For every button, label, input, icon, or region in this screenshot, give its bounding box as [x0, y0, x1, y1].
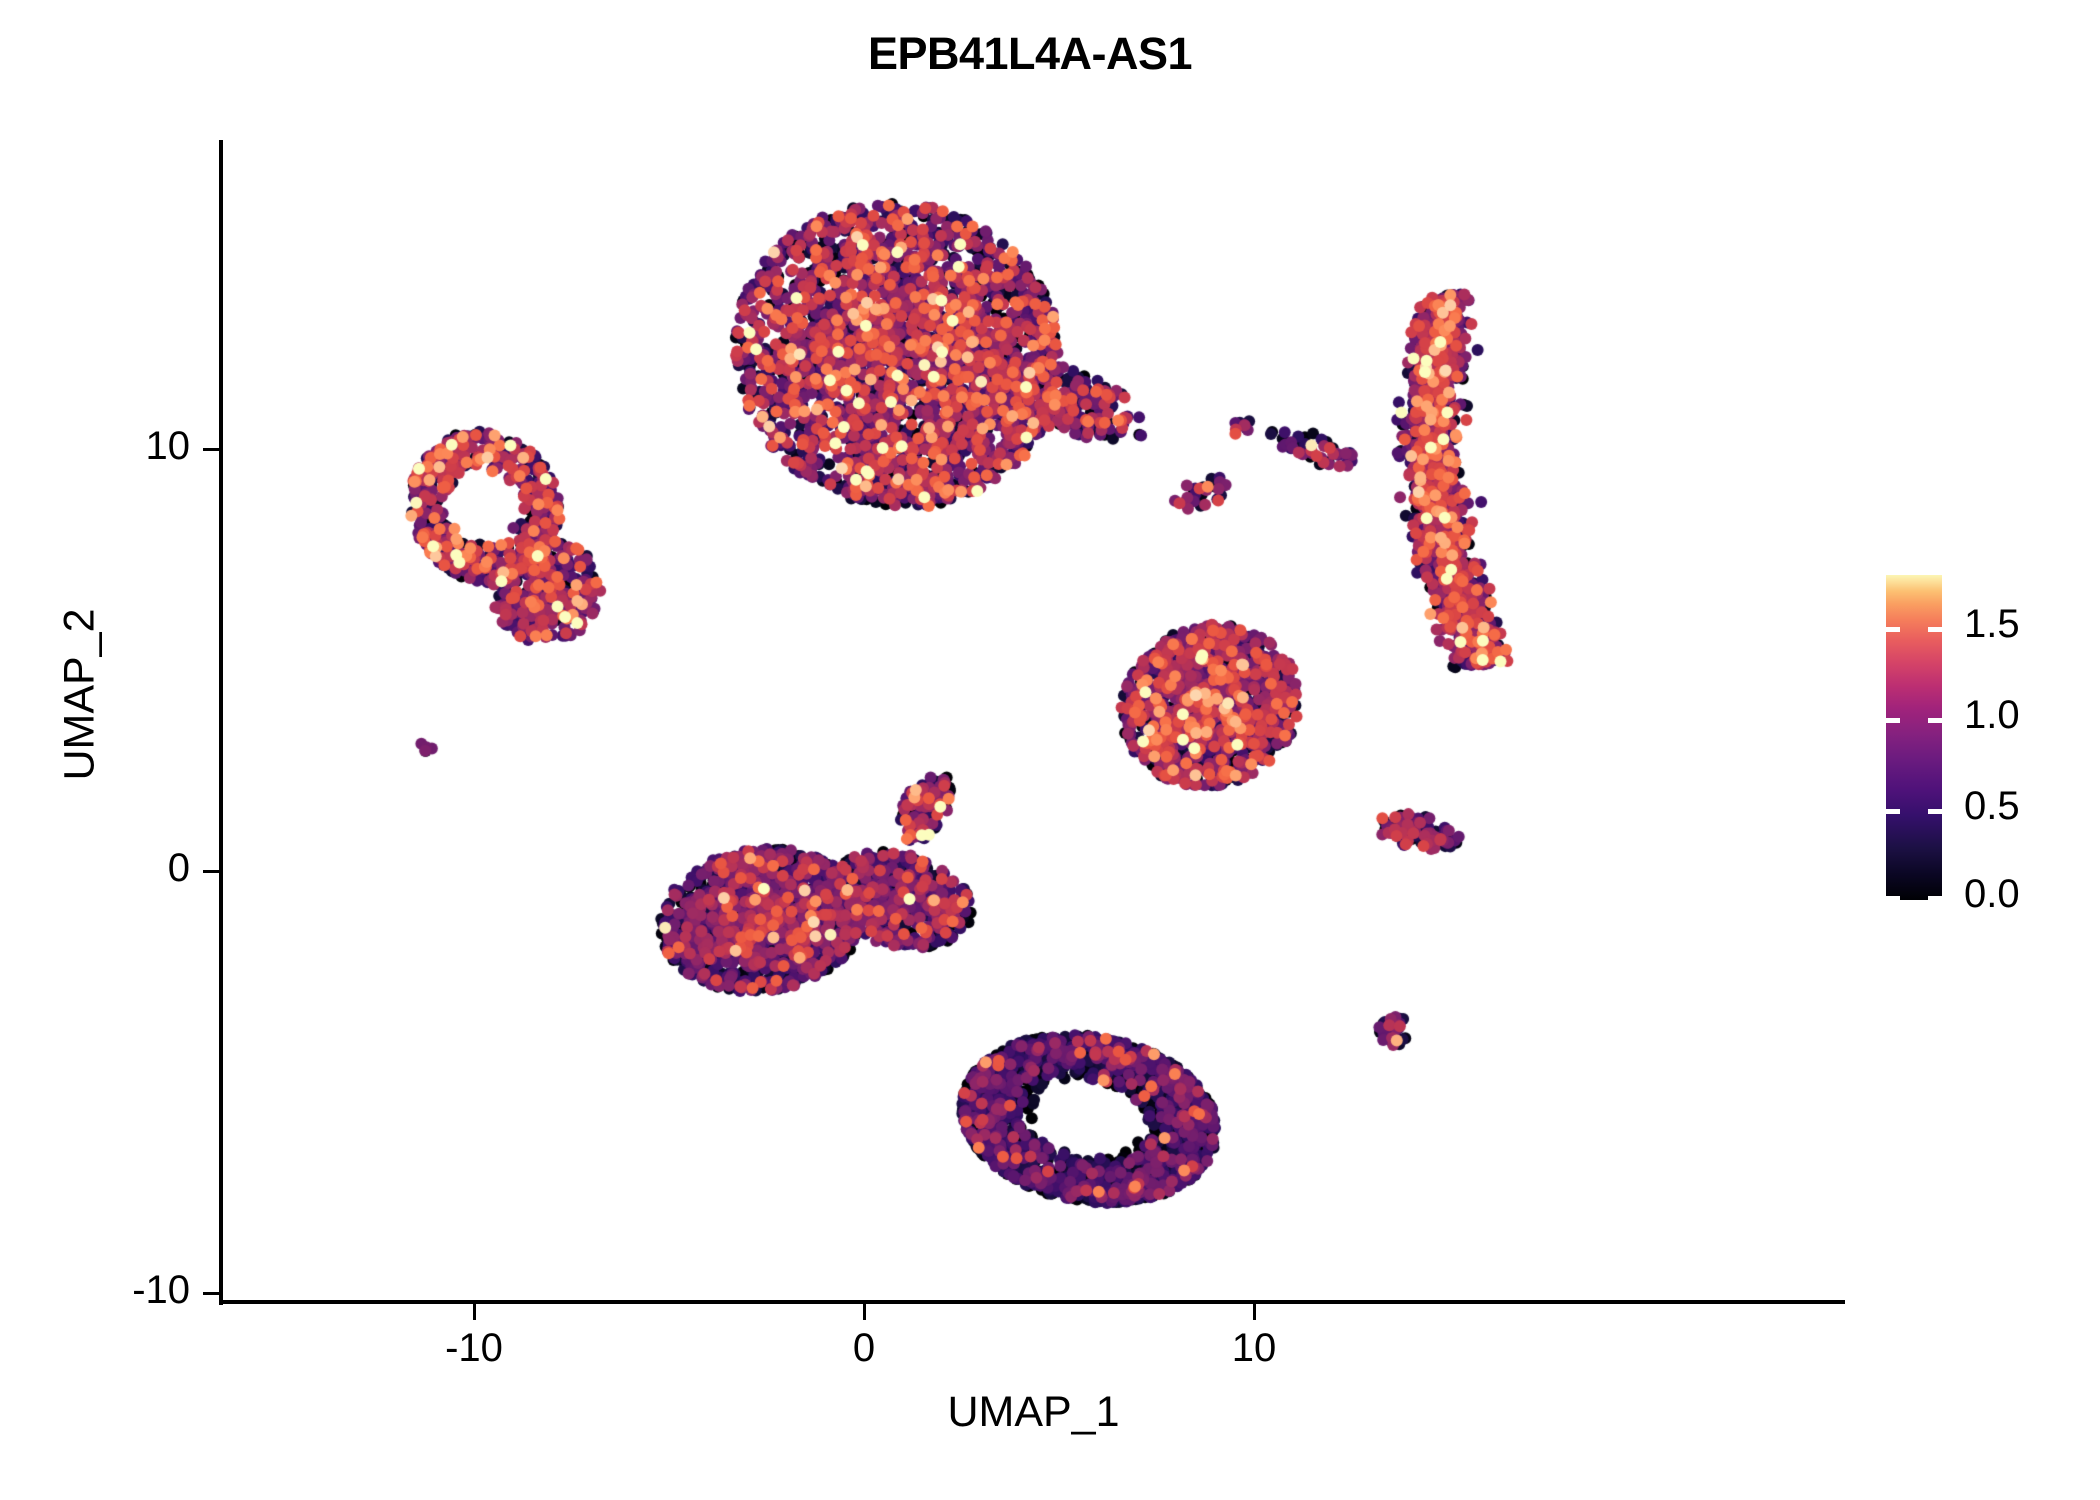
- x-axis-line: [219, 1300, 1845, 1304]
- colorbar-tick: [1886, 896, 1900, 901]
- y-tick-mark: [203, 870, 219, 873]
- colorbar-tick: [1928, 809, 1942, 814]
- x-tick-label: -10: [394, 1326, 554, 1371]
- colorbar-tick: [1886, 809, 1900, 814]
- x-tick-mark: [1253, 1304, 1256, 1320]
- y-tick-mark: [203, 1292, 219, 1295]
- page-title: EPB41L4A-AS1: [0, 28, 2060, 80]
- y-tick-label: 0: [30, 846, 190, 891]
- y-tick-label: 10: [30, 424, 190, 469]
- x-tick-mark: [863, 1304, 866, 1320]
- umap-feature-plot: EPB41L4A-AS1 -10 0 10 10 0 -10 UMAP_1 UM…: [0, 0, 2100, 1500]
- color-legend[interactable]: 1.5 1.0 0.5 0.0: [1886, 575, 1942, 900]
- colorbar-gradient: [1886, 575, 1942, 900]
- colorbar-tick: [1928, 896, 1942, 901]
- x-tick-label: 0: [784, 1326, 944, 1371]
- colorbar-tick: [1886, 718, 1900, 723]
- x-axis-title: UMAP_1: [222, 1388, 1845, 1437]
- colorbar-tick: [1928, 718, 1942, 723]
- x-tick-mark: [473, 1304, 476, 1320]
- y-axis-title: UMAP_2: [56, 455, 105, 935]
- scatter-points-layer: [222, 140, 1845, 1302]
- x-tick-label: 10: [1174, 1326, 1334, 1371]
- y-tick-mark: [203, 448, 219, 451]
- colorbar-label: 0.0: [1964, 872, 2020, 917]
- colorbar-label: 1.0: [1964, 693, 2020, 738]
- scatter-plot-panel[interactable]: [222, 140, 1845, 1302]
- colorbar-tick: [1928, 627, 1942, 632]
- y-axis-line: [219, 140, 223, 1305]
- colorbar-label: 1.5: [1964, 602, 2020, 647]
- colorbar-tick: [1886, 627, 1900, 632]
- y-tick-label: -10: [30, 1268, 190, 1313]
- colorbar-label: 0.5: [1964, 784, 2020, 829]
